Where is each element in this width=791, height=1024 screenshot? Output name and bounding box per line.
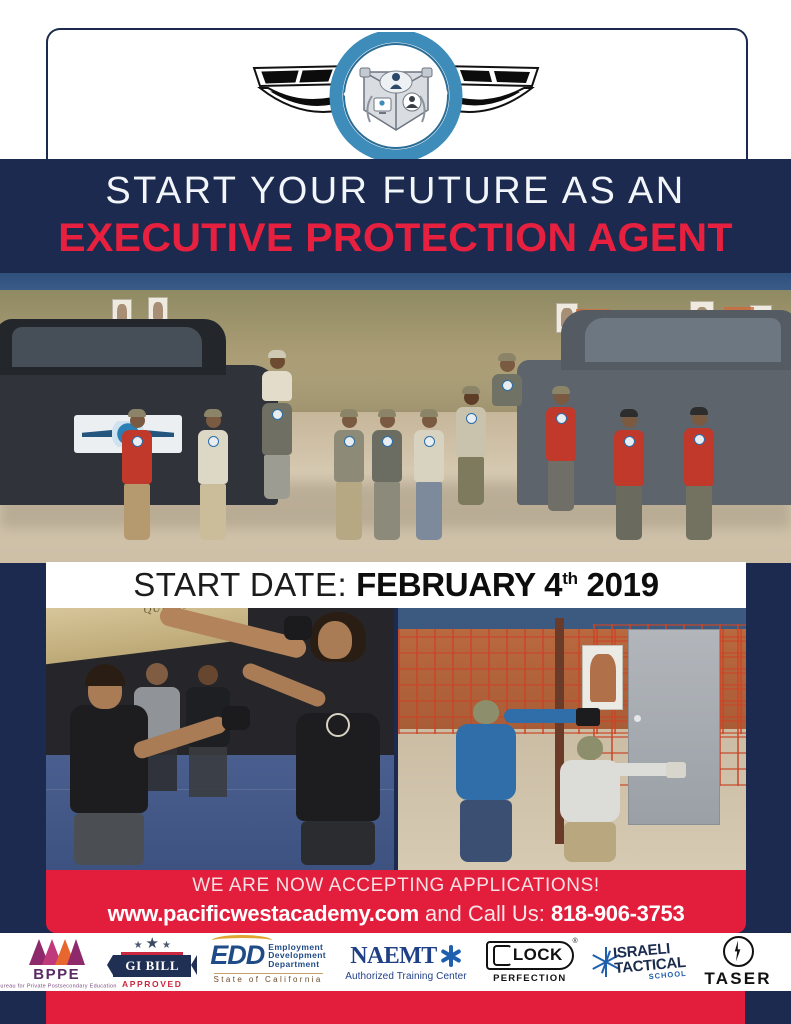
taser-title: TASER <box>704 969 771 989</box>
glock-title: LOCK <box>513 945 563 965</box>
group-member <box>684 411 714 540</box>
edd-logo: EDD Employment Development Department St… <box>210 935 326 989</box>
edd-department-lines: Employment Development Department <box>268 943 326 969</box>
paper-target <box>582 645 622 710</box>
glock-g-icon <box>493 945 512 966</box>
glove <box>222 706 250 730</box>
glock-subtitle: PERFECTION <box>493 973 566 984</box>
call-to-action-band: WE ARE NOW ACCEPTING APPLICATIONS! www.p… <box>46 870 746 933</box>
start-date-banner: START DATE: FEBRUARY 4th 2019 <box>46 562 746 608</box>
bppe-title: BPPE <box>33 966 80 983</box>
glove <box>284 616 312 640</box>
flyer-page: PACIFIC WEST ACADEMY <box>0 0 791 1024</box>
israeli-tactical-school-logo: ISRAELI TACTICAL SCHOOL <box>593 935 685 989</box>
shooter-kneeling <box>560 736 620 862</box>
cta-headline: WE ARE NOW ACCEPTING APPLICATIONS! <box>192 876 600 897</box>
instructor-figure <box>70 671 148 865</box>
krav-maga-training-photo: QUI, ASERIT <box>46 608 394 870</box>
gi-bill-logo: ★★★ GI BILL APPROVED <box>113 935 191 989</box>
footer-corner-left <box>0 991 46 1024</box>
naemt-logo: NAEMT Authorized Training Center <box>345 935 467 989</box>
footer-corner-right <box>745 991 791 1024</box>
firearms-tactical-training-photo <box>398 608 746 870</box>
headline-band: START YOUR FUTURE AS AN EXECUTIVE PROTEC… <box>0 159 791 273</box>
start-date-day: 4 <box>544 566 562 603</box>
group-member <box>492 357 522 406</box>
bppe-logo: BPPE Bureau for Private Postsecondary Ed… <box>19 935 94 989</box>
start-date-year: 2019 <box>587 566 659 603</box>
its-line-3: SCHOOL <box>648 970 687 981</box>
cta-connector: and Call Us: <box>425 901 545 926</box>
shooter-standing <box>456 700 516 862</box>
edd-subtitle: State of California <box>214 973 323 984</box>
group-member <box>372 413 402 540</box>
group-member <box>334 413 364 540</box>
edd-title: EDD <box>210 940 264 971</box>
group-member <box>198 413 228 540</box>
glock-mark: LOCK ® <box>486 941 574 970</box>
pacific-west-academy-logo: PACIFIC WEST ACADEMY <box>246 32 546 160</box>
start-date-ordinal: th <box>562 569 577 588</box>
naemt-subtitle: Authorized Training Center <box>345 971 467 982</box>
its-wordmark: ISRAELI TACTICAL SCHOOL <box>612 940 686 984</box>
hero-group-photo <box>0 273 791 563</box>
extended-arms <box>504 709 586 723</box>
group-member <box>262 386 292 499</box>
star-of-life-icon <box>440 945 462 967</box>
start-date-month: FEBRUARY <box>356 566 535 603</box>
start-date-value: FEBRUARY 4th 2019 <box>356 566 659 604</box>
student-figure <box>296 621 380 865</box>
footer-red-bar <box>0 991 791 1024</box>
bppe-triangle-icon <box>29 937 85 965</box>
cta-contact-line: www.pacificwestacademy.com and Call Us: … <box>108 902 685 926</box>
group-member <box>414 413 444 540</box>
naemt-title: NAEMT <box>350 943 436 970</box>
gi-bill-title: GI BILL <box>113 955 191 977</box>
edd-swoosh-icon <box>212 935 272 946</box>
headline-line-2: EXECUTIVE PROTECTION AGENT <box>58 216 733 260</box>
its-row: ISRAELI TACTICAL SCHOOL <box>593 943 685 981</box>
start-date-label: START DATE: <box>133 566 347 604</box>
website-link[interactable]: www.pacificwestacademy.com <box>108 901 419 926</box>
bppe-subtitle: Bureau for Private Postsecondary Educati… <box>0 982 117 988</box>
taser-logo: TASER <box>704 935 771 989</box>
handgun <box>576 708 600 726</box>
training-photos: QUI, ASERIT <box>46 608 746 870</box>
partner-logo-strip: BPPE Bureau for Private Postsecondary Ed… <box>0 933 791 991</box>
edd-row: EDD Employment Development Department <box>210 940 326 971</box>
taser-lightning-icon <box>723 936 754 967</box>
handgun <box>666 762 686 778</box>
edd-line-3: Department <box>268 960 326 969</box>
group-member <box>456 390 486 505</box>
group-member <box>546 390 576 511</box>
group-member <box>262 354 292 401</box>
naemt-row: NAEMT <box>350 943 461 970</box>
gi-bill-subtitle: APPROVED <box>122 979 183 989</box>
group-member <box>122 413 152 540</box>
glock-trademark: ® <box>572 938 577 945</box>
group-member <box>614 413 644 540</box>
headline-line-1: START YOUR FUTURE AS AN <box>105 172 685 212</box>
phone-link[interactable]: 818-906-3753 <box>551 901 684 926</box>
breach-door <box>628 629 720 825</box>
gi-bill-stars-icon: ★★★ <box>134 936 171 951</box>
glock-logo: LOCK ® PERFECTION <box>486 935 574 989</box>
